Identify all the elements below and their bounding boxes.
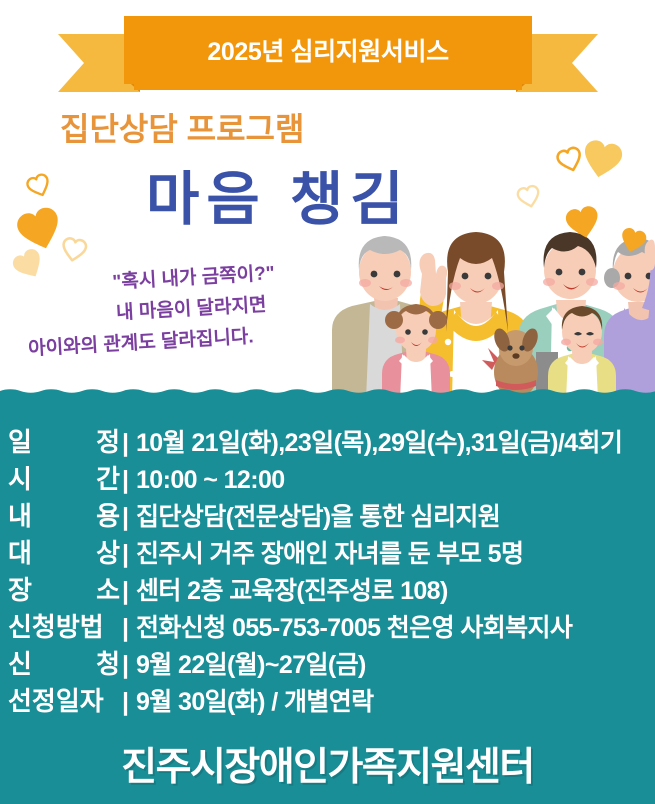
info-value: 센터 2층 교육장(진주성로 108) (136, 571, 448, 607)
info-label: 시간 (8, 459, 120, 496)
info-separator: | (120, 688, 136, 717)
info-separator: | (120, 540, 136, 569)
info-value: 집단상담(전문상담)을 통한 심리지원 (136, 497, 500, 533)
info-label: 장소 (8, 570, 120, 607)
info-value: 10:00 ~ 12:00 (136, 466, 285, 495)
ribbon-center-lip (134, 84, 522, 90)
info-row: 신청|9월 22일(월)~27일(금) (8, 644, 653, 681)
quote-block: "혹시 내가 금쪽이?" 내 마음이 달라지면 아이와의 관계도 달라집니다. (24, 254, 349, 365)
info-value: 진주시 거주 장애인 자녀를 둔 부모 5명 (136, 534, 523, 570)
info-label: 신청방법 (8, 607, 120, 644)
info-label: 신청 (8, 644, 120, 681)
info-value: 9월 22일(월)~27일(금) (136, 645, 366, 681)
info-separator: | (120, 429, 136, 458)
family-illustration (330, 212, 655, 400)
info-row: 시간|10:00 ~ 12:00 (8, 459, 653, 496)
info-row: 대상|진주시 거주 장애인 자녀를 둔 부모 5명 (8, 533, 653, 570)
teal-body-section: 일정|10월 21일(화),23일(목),29일(수),31일(금)/4회기시간… (0, 400, 655, 804)
heart-left-large-icon (18, 208, 19, 209)
organization-name: 진주시장애인가족지원센터 (0, 736, 655, 792)
wave-divider (0, 378, 655, 408)
info-label: 대상 (8, 533, 120, 570)
info-separator: | (120, 614, 136, 643)
heart-left-pale-icon (62, 238, 63, 239)
info-separator: | (120, 577, 136, 606)
heart-left-bottom-icon (14, 250, 15, 251)
heart-top-right-icon (620, 228, 621, 229)
info-separator: | (120, 651, 136, 680)
info-separator: | (120, 466, 136, 495)
info-separator: | (120, 503, 136, 532)
ribbon-title-text: 2025년 심리지원서비스 (124, 16, 532, 84)
info-row: 내용|집단상담(전문상담)을 통한 심리지원 (8, 496, 653, 533)
info-label: 일정 (8, 422, 120, 459)
heart-right-mid-icon (566, 206, 567, 207)
heart-left-small-icon (28, 175, 29, 176)
program-subtitle: 집단상담 프로그램 (60, 104, 304, 150)
top-white-section: 2025년 심리지원서비스 집단상담 프로그램 마음 챙김 "혹시 내가 금쪽이… (0, 0, 655, 400)
info-label: 선정일자 (8, 681, 120, 718)
info-label: 내용 (8, 496, 120, 533)
info-value: 전화신청 055-753-7005 천은영 사회복지사 (136, 608, 572, 644)
info-value: 9월 30일(화) / 개별연락 (136, 682, 374, 718)
info-row: 신청방법|전화신청 055-753-7005 천은영 사회복지사 (8, 607, 653, 644)
heart-right-pale-icon (518, 186, 519, 187)
poster-root: 2025년 심리지원서비스 집단상담 프로그램 마음 챙김 "혹시 내가 금쪽이… (0, 0, 655, 804)
info-row: 선정일자|9월 30일(화) / 개별연락 (8, 681, 653, 718)
info-list: 일정|10월 21일(화),23일(목),29일(수),31일(금)/4회기시간… (8, 422, 653, 718)
info-value: 10월 21일(화),23일(목),29일(수),31일(금)/4회기 (136, 423, 622, 459)
ribbon-banner: 2025년 심리지원서비스 (58, 16, 598, 92)
info-row: 일정|10월 21일(화),23일(목),29일(수),31일(금)/4회기 (8, 422, 653, 459)
info-row: 장소|센터 2층 교육장(진주성로 108) (8, 570, 653, 607)
heart-right-large-icon (582, 140, 583, 141)
heart-right-small-icon (558, 148, 559, 149)
